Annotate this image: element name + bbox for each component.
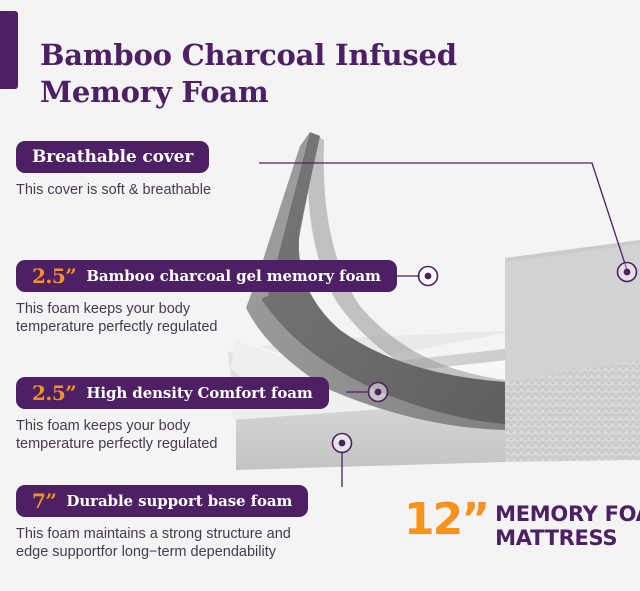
callout-durable-support-base-foam: 7” Durable support base foam This foam m… [16, 485, 308, 561]
callout-breathable-cover: Breathable cover This cover is soft & br… [16, 141, 211, 200]
badge-label: Durable support base foam [66, 492, 292, 510]
callout-high-density-comfort-foam: 2.5” High density Comfort foam This foam… [16, 377, 329, 453]
mattress-size-block: 12” MEMORY FOAM MATTRESS [404, 500, 640, 551]
page-title-line-1: Bamboo Charcoal Infused [40, 37, 510, 74]
callout-description: This foam keeps your body temperature pe… [16, 301, 397, 336]
page-title-line-2: Memory Foam [40, 74, 510, 111]
connector-dot-gel [419, 267, 438, 286]
callout-description: This foam maintains a strong structure a… [16, 526, 308, 561]
mattress-size-number: 12” [404, 500, 488, 540]
mattress-infographic: Bamboo Charcoal Infused Memory Foam Brea… [0, 0, 640, 591]
connector-dot-cover [618, 263, 637, 282]
badge-measure: 2.5” [32, 381, 76, 405]
mattress-size-line-1: MEMORY FOAM [495, 503, 640, 527]
callout-description: This foam keeps your body temperature pe… [16, 418, 329, 453]
badge-breathable-cover[interactable]: Breathable cover [16, 141, 209, 173]
callout-description: This cover is soft & breathable [16, 182, 211, 200]
connector-dot-comfort [369, 383, 388, 402]
badge-label: High density Comfort foam [86, 384, 312, 402]
badge-label: Breathable cover [32, 147, 193, 167]
badge-high-density-comfort-foam[interactable]: 2.5” High density Comfort foam [16, 377, 329, 409]
badge-label: Bamboo charcoal gel memory foam [86, 267, 380, 285]
header-accent-bar [0, 11, 18, 89]
badge-measure: 2.5” [32, 264, 76, 288]
badge-bamboo-charcoal-gel-foam[interactable]: 2.5” Bamboo charcoal gel memory foam [16, 260, 397, 292]
connector-cover [259, 163, 627, 270]
callout-bamboo-charcoal-gel-foam: 2.5” Bamboo charcoal gel memory foam Thi… [16, 260, 397, 336]
mattress-size-line-2: MATTRESS [495, 527, 640, 551]
connector-dot-base [333, 434, 352, 453]
cover-fabric-panel [505, 240, 640, 462]
mattress-size-words: MEMORY FOAM MATTRESS [495, 500, 640, 551]
page-title: Bamboo Charcoal Infused Memory Foam [40, 37, 510, 111]
badge-measure: 7” [32, 489, 56, 513]
badge-durable-support-base-foam[interactable]: 7” Durable support base foam [16, 485, 308, 517]
